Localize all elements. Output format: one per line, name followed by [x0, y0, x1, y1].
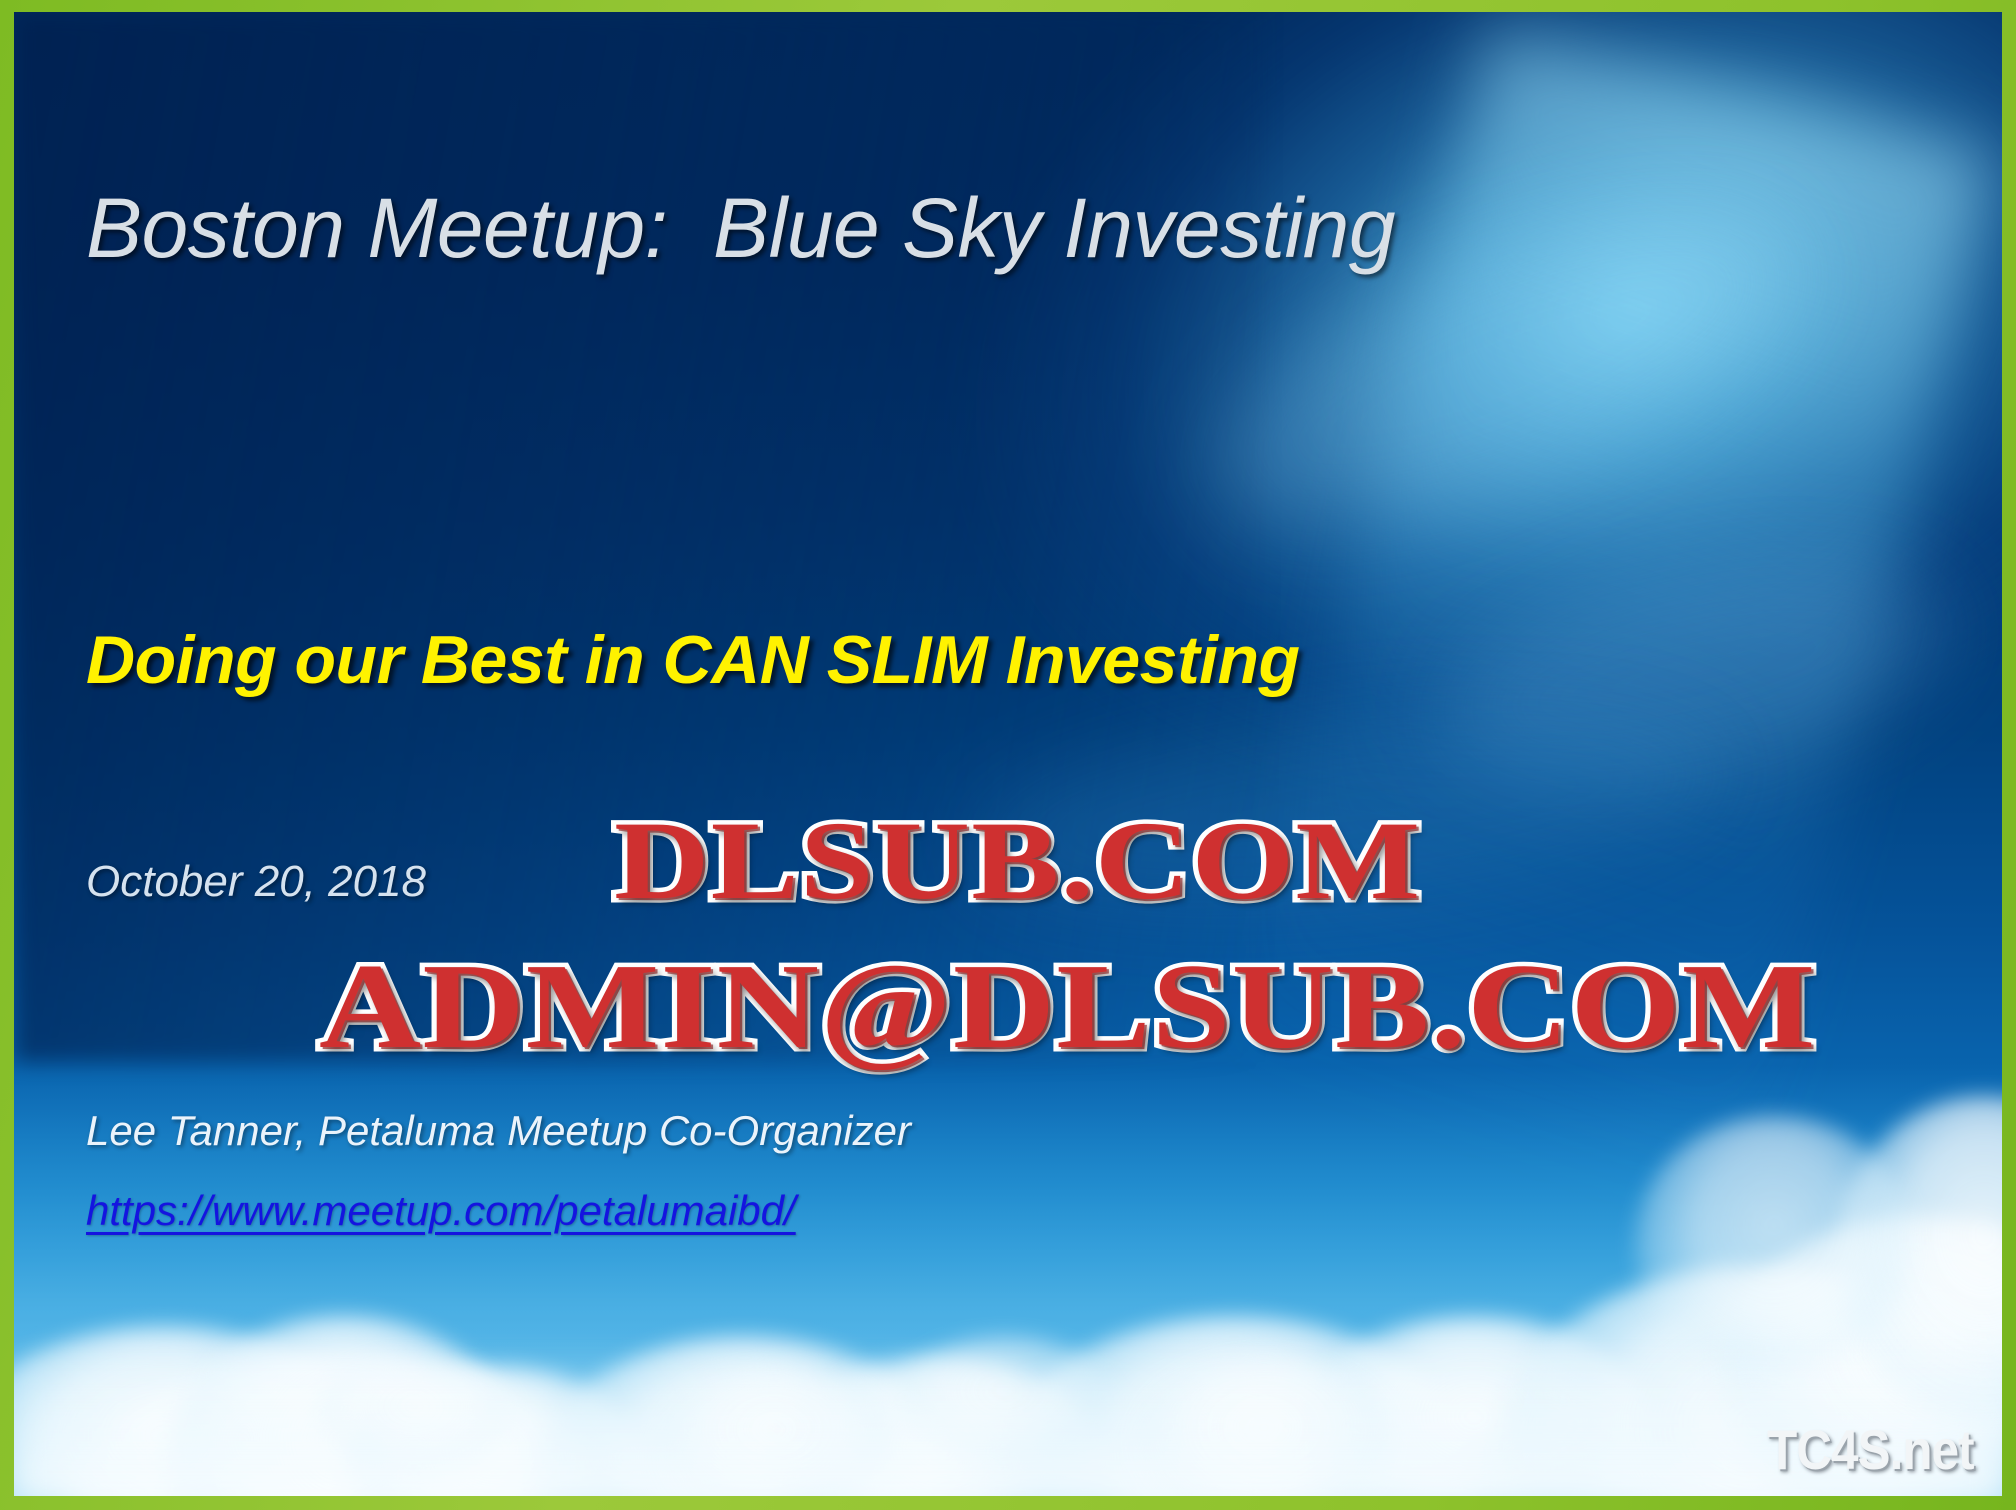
slide-date: October 20, 2018: [86, 857, 426, 907]
meetup-url-link[interactable]: https://www.meetup.com/petalumaibd/: [86, 1187, 796, 1235]
cloud-puff: [1634, 1116, 1914, 1376]
slide-canvas: Boston Meetup: Blue Sky Investing Doing …: [14, 12, 2002, 1496]
watermark-site: DLSUB.COM: [614, 797, 1421, 926]
slide-author-credit: Lee Tanner, Petaluma Meetup Co-Organizer: [86, 1107, 911, 1155]
slide-title: Boston Meetup: Blue Sky Investing: [86, 184, 1726, 272]
watermark-email: ADMIN@DLSUB.COM: [319, 937, 1816, 1077]
slide-subtitle: Doing our Best in CAN SLIM Investing: [86, 625, 1586, 696]
tc4s-logo: TC4S.net: [1767, 1417, 1974, 1482]
cloud-haze: [14, 1346, 2002, 1496]
presentation-slide: Boston Meetup: Blue Sky Investing Doing …: [0, 0, 2016, 1510]
